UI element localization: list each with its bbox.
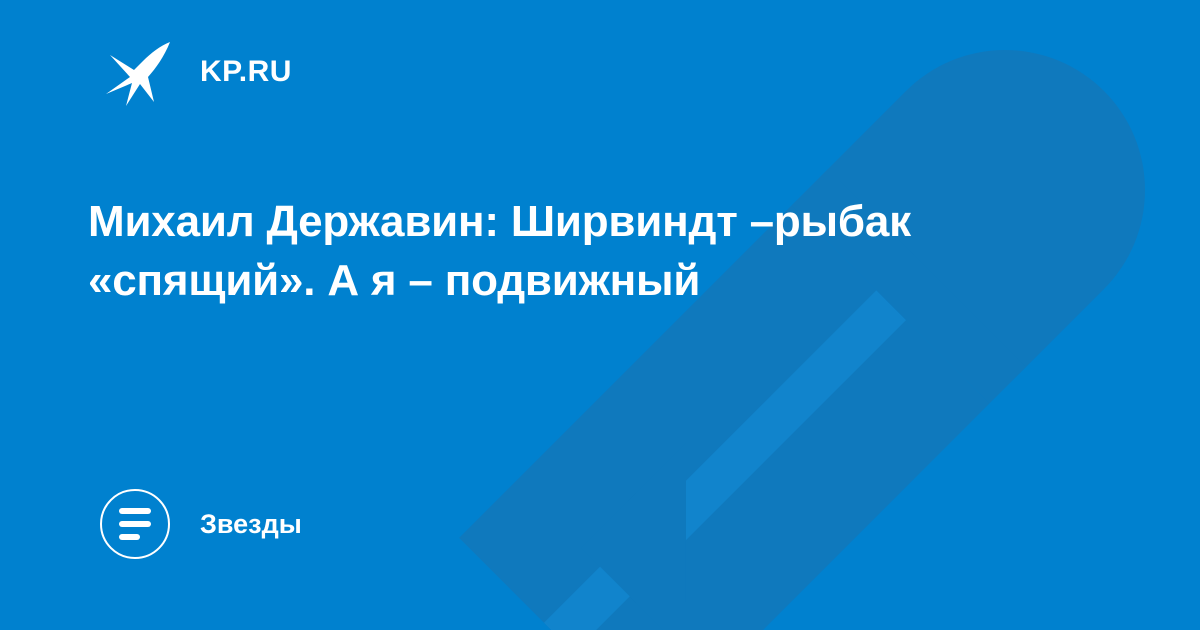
hamburger-line-2 — [119, 521, 151, 527]
rubric-badge[interactable]: Звезды — [100, 488, 302, 560]
hamburger-line-1 — [119, 508, 151, 514]
site-header: KP.RU — [104, 36, 292, 108]
hamburger-lines-icon — [100, 489, 170, 559]
rubric-label: Звезды — [200, 511, 302, 538]
brand-name: KP.RU — [200, 57, 292, 87]
swallow-bird-logo-icon — [104, 36, 176, 108]
article-share-card: KP.RU Михаил Державин: Ширвиндт –рыбак «… — [0, 0, 1200, 630]
article-headline: Михаил Державин: Ширвиндт –рыбак «спящий… — [88, 192, 988, 310]
hamburger-line-3 — [119, 534, 140, 540]
